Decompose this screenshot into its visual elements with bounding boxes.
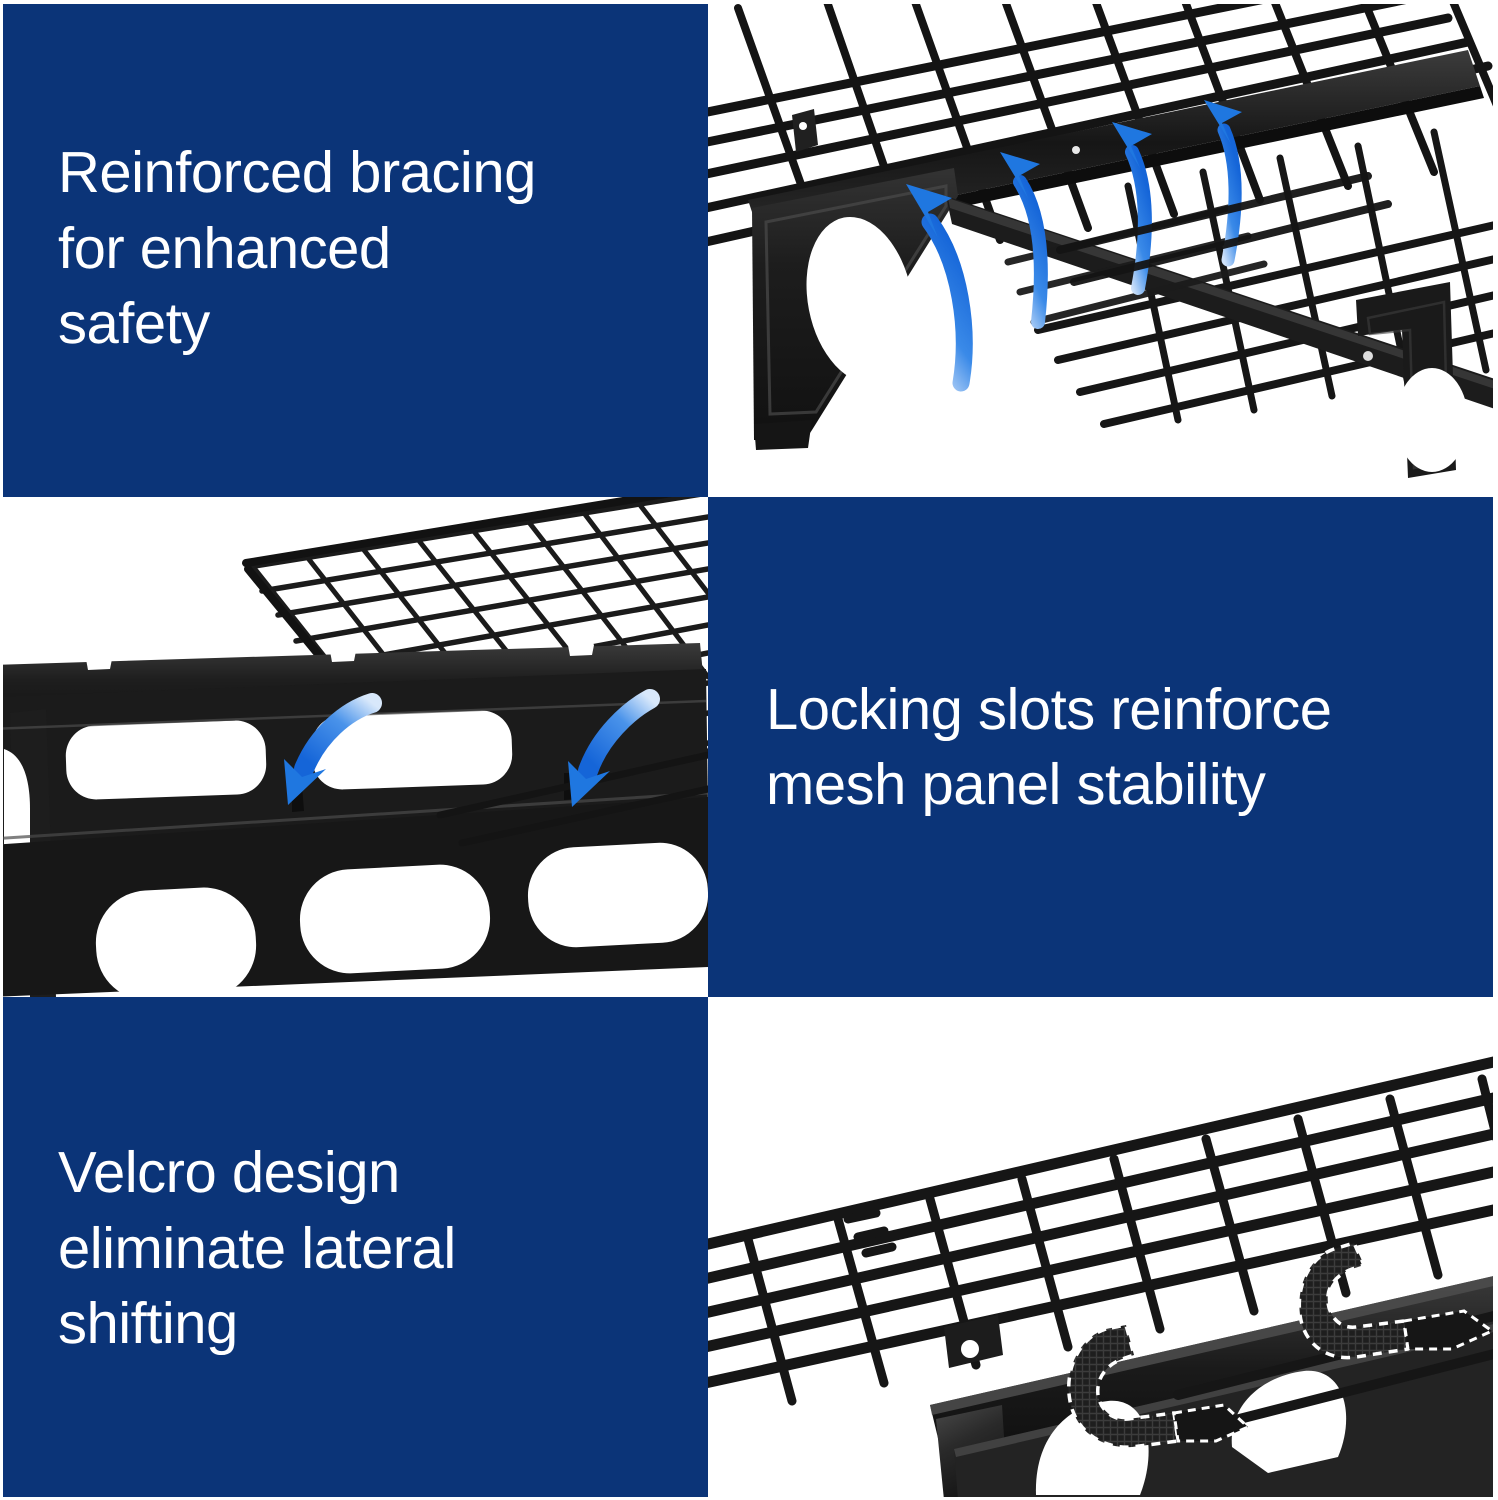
panel-3-text-block: Velcro designeliminate lateralshifting (0, 997, 708, 1500)
hanger-tab (792, 109, 818, 152)
locking-slots-illustration (0, 497, 708, 997)
panel-2-headline: Locking slots reinforcemesh panel stabil… (708, 672, 1390, 823)
product-feature-infographic: Reinforced bracingfor enhancedsafety (0, 0, 1498, 1500)
panel-3-image (708, 997, 1498, 1500)
panel-1-image (708, 0, 1498, 497)
panel-1-text-block: Reinforced bracingfor enhancedsafety (0, 0, 708, 497)
panel-2-text-block: Locking slots reinforcemesh panel stabil… (708, 497, 1498, 997)
panel-3-headline: Velcro designeliminate lateralshifting (0, 1135, 514, 1361)
reinforced-bracing-illustration (708, 0, 1498, 497)
panel-1-headline: Reinforced bracingfor enhancedsafety (0, 135, 594, 361)
velcro-strap-illustration (708, 997, 1498, 1500)
panel-2-image (0, 497, 708, 997)
